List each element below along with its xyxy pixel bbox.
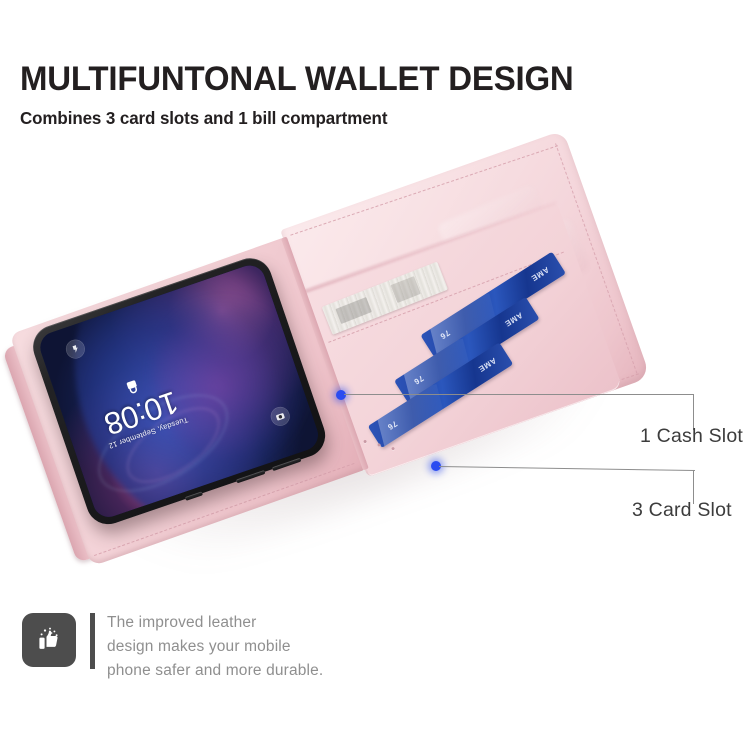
card-label-brand: AME — [477, 356, 498, 374]
card-label-number: 76 — [412, 374, 425, 387]
page-subtitle: Combines 3 card slots and 1 bill compart… — [20, 108, 699, 129]
callout-label-cash-slot: 1 Cash Slot — [640, 425, 743, 448]
lock-icon — [123, 374, 141, 396]
card-label-brand: AME — [503, 310, 524, 328]
smartphone: Tuesday, September 12 10:08 — [27, 252, 331, 530]
power-button — [185, 491, 203, 501]
feature-description: The improved leather design makes your m… — [107, 611, 323, 683]
feature-divider — [90, 613, 95, 669]
banknote — [322, 262, 448, 335]
page-title: MULTIFUNTONAL WALLET DESIGN — [20, 62, 699, 98]
phone-screen: Tuesday, September 12 10:08 — [36, 261, 322, 521]
punch-hole — [391, 447, 395, 451]
callout-label-card-slot: 3 Card Slot — [632, 499, 732, 522]
card-label-number: 76 — [385, 419, 398, 432]
header-block: MULTIFUNTONAL WALLET DESIGN Combines 3 c… — [20, 62, 720, 129]
thumbs-up-icon — [22, 613, 76, 667]
card-label-brand: AME — [530, 265, 551, 283]
punch-hole — [363, 440, 367, 444]
banknote-detail-b — [390, 276, 420, 303]
wallet-case: 76 AME 76 AME 76 AME — [7, 130, 663, 610]
poster-canvas: MULTIFUNTONAL WALLET DESIGN Combines 3 c… — [0, 0, 750, 750]
feature-line: phone safer and more durable. — [107, 659, 323, 683]
banknote-detail-a — [336, 297, 372, 324]
feature-line: The improved leather — [107, 611, 323, 635]
product-photo: 76 AME 76 AME 76 AME — [0, 150, 750, 590]
feature-line: design makes your mobile — [107, 635, 323, 659]
card-label-number: 76 — [438, 328, 451, 341]
callout-line-cash-horizontal — [344, 394, 694, 395]
